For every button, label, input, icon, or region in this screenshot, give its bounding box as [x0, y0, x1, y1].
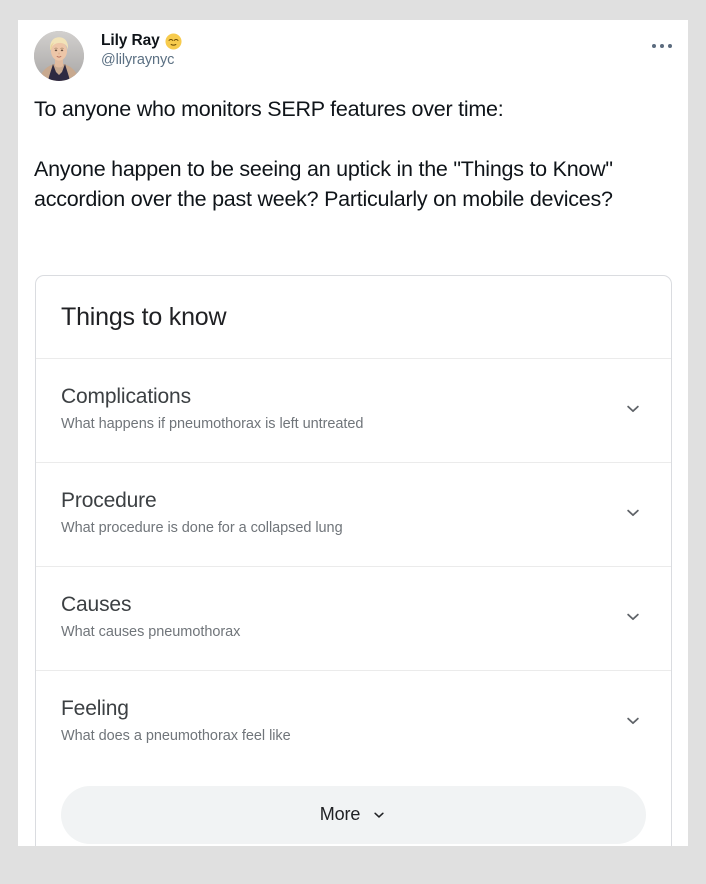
author-handle[interactable]: @lilyraynyc: [101, 52, 182, 69]
accordion-row-title: Complications: [61, 384, 604, 410]
avatar[interactable]: [34, 31, 84, 81]
accordion-row-text: Feeling What does a pneumothorax feel li…: [61, 696, 604, 746]
chevron-down-icon[interactable]: [620, 604, 646, 630]
accordion-row-title: Causes: [61, 592, 604, 618]
author-name-row[interactable]: Lily Ray: [101, 32, 182, 50]
accordion-row[interactable]: Feeling What does a pneumothorax feel li…: [36, 670, 671, 774]
menu-dot: [668, 44, 672, 48]
author-display-name: Lily Ray: [101, 32, 160, 50]
tweet-card: Lily Ray @lilyraynyc To anyone who monit…: [18, 20, 688, 846]
accordion-row-text: Procedure What procedure is done for a c…: [61, 488, 604, 538]
things-to-know-title: Things to know: [36, 276, 671, 358]
accordion-row-title: Procedure: [61, 488, 604, 514]
accordion-row[interactable]: Complications What happens if pneumothor…: [36, 358, 671, 462]
chevron-down-icon: [371, 807, 387, 823]
accordion-row-title: Feeling: [61, 696, 604, 722]
tweet-header: Lily Ray @lilyraynyc: [18, 20, 688, 82]
accordion-row[interactable]: Procedure What procedure is done for a c…: [36, 462, 671, 566]
chevron-down-icon[interactable]: [620, 500, 646, 526]
more-button-label: More: [320, 804, 361, 825]
more-button-container: More: [36, 774, 671, 847]
accordion-row-subtitle: What happens if pneumothorax is left unt…: [61, 415, 604, 434]
more-button[interactable]: More: [61, 786, 646, 844]
chevron-down-icon[interactable]: [620, 396, 646, 422]
accordion-row-text: Complications What happens if pneumothor…: [61, 384, 604, 434]
relieved-face-emoji: [165, 33, 182, 50]
accordion-row-text: Causes What causes pneumothorax: [61, 592, 604, 642]
overflow-menu-icon[interactable]: [652, 44, 672, 48]
tweet-text: To anyone who monitors SERP features ove…: [18, 82, 688, 214]
menu-dot: [652, 44, 656, 48]
things-to-know-card: Things to know Complications What happen…: [35, 275, 672, 846]
accordion-row-subtitle: What causes pneumothorax: [61, 623, 604, 642]
author-identity: Lily Ray @lilyraynyc: [101, 31, 182, 69]
accordion-row[interactable]: Causes What causes pneumothorax: [36, 566, 671, 670]
chevron-down-icon[interactable]: [620, 708, 646, 734]
menu-dot: [660, 44, 664, 48]
accordion-row-subtitle: What procedure is done for a collapsed l…: [61, 519, 604, 538]
accordion-row-subtitle: What does a pneumothorax feel like: [61, 727, 604, 746]
